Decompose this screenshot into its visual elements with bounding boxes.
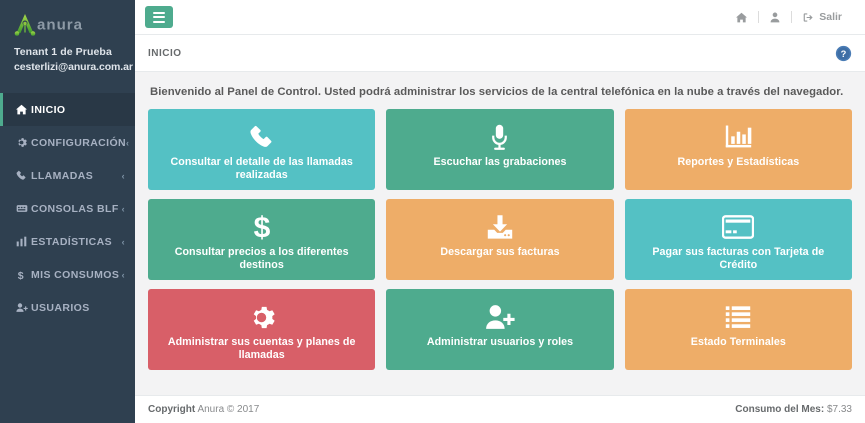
tenant-name: Tenant 1 de Prueba — [14, 45, 121, 60]
sidebar-item-inicio[interactable]: INICIO — [0, 93, 135, 126]
sidebar-item-configuracion[interactable]: CONFIGURACIÓN ‹ — [0, 126, 135, 159]
sidebar-nav: INICIO CONFIGURACIÓN ‹ LLAMADAS ‹ — [0, 93, 135, 324]
tile-consultar-precios-destinos[interactable]: $ Consultar precios a los diferentes des… — [148, 199, 375, 280]
sidebar: anura Tenant 1 de Prueba cesterlizi@anur… — [0, 0, 135, 423]
console-icon — [16, 203, 31, 214]
gear-icon — [248, 300, 275, 334]
topnav-home-button[interactable] — [725, 12, 758, 23]
sidebar-item-estadisticas[interactable]: ESTADÍSTICAS ‹ — [0, 225, 135, 258]
breadcrumb: INICIO — [148, 48, 182, 59]
logout-button[interactable]: Salir — [792, 11, 853, 23]
footer-consumption: Consumo del Mes: $7.33 — [735, 404, 852, 415]
list-icon — [725, 300, 751, 334]
logo[interactable]: anura — [14, 12, 121, 38]
footer-copyright-rest: Anura © 2017 — [195, 404, 259, 415]
help-circle-icon: ? — [835, 45, 852, 62]
logout-icon — [803, 12, 814, 23]
hamburger-icon-line — [153, 16, 165, 18]
home-icon — [736, 12, 747, 23]
chevron-left-icon: ‹ — [122, 237, 125, 247]
tile-label: Estado Terminales — [683, 334, 794, 349]
app-root: anura Tenant 1 de Prueba cesterlizi@anur… — [0, 0, 865, 423]
sidebar-item-label: ESTADÍSTICAS — [31, 236, 122, 248]
phone-icon — [16, 170, 31, 181]
menu-toggle-button[interactable] — [145, 6, 173, 28]
chevron-left-icon: ‹ — [122, 270, 125, 280]
chevron-left-icon: ‹ — [126, 138, 129, 148]
welcome-text: Bienvenido al Panel de Control. Usted po… — [150, 86, 852, 98]
tile-escuchar-grabaciones[interactable]: Escuchar las grabaciones — [386, 109, 613, 190]
sidebar-item-mis-consumos[interactable]: $ MIS CONSUMOS ‹ — [0, 258, 135, 291]
help-button[interactable]: ? — [835, 45, 852, 62]
hamburger-icon-line — [153, 21, 165, 23]
tile-label: Pagar sus facturas con Tarjeta de Crédit… — [625, 244, 852, 272]
svg-text:anura: anura — [37, 17, 83, 34]
sidebar-item-llamadas[interactable]: LLAMADAS ‹ — [0, 159, 135, 192]
tile-grid: Consultar el detalle de las llamadas rea… — [148, 109, 852, 370]
home-icon — [16, 104, 31, 115]
microphone-icon — [487, 120, 512, 154]
svg-text:?: ? — [841, 49, 847, 59]
tile-estado-terminales[interactable]: Estado Terminales — [625, 289, 852, 370]
tile-label: Administrar sus cuentas y planes de llam… — [148, 334, 375, 362]
sidebar-item-usuarios[interactable]: USUARIOS — [0, 291, 135, 324]
dollar-icon: $ — [16, 269, 31, 281]
tile-label: Reportes y Estadísticas — [669, 154, 807, 169]
sidebar-item-label: CONSOLAS BLF — [31, 203, 122, 215]
tile-label: Consultar precios a los diferentes desti… — [148, 244, 375, 272]
sidebar-item-consolas-blf[interactable]: CONSOLAS BLF ‹ — [0, 192, 135, 225]
bar-chart-icon — [16, 236, 31, 247]
user-add-icon — [485, 300, 515, 334]
gear-icon — [16, 137, 31, 148]
tile-consultar-detalle-llamadas[interactable]: Consultar el detalle de las llamadas rea… — [148, 109, 375, 190]
footer-copyright-strong: Copyright — [148, 404, 195, 415]
topnav-user-button[interactable] — [759, 12, 791, 23]
tile-label: Consultar el detalle de las llamadas rea… — [148, 154, 375, 182]
top-nav: Salir — [725, 11, 853, 23]
bar-chart-icon — [725, 120, 752, 154]
svg-text:$: $ — [253, 212, 270, 242]
anura-logo-icon — [14, 13, 36, 37]
tile-descargar-facturas[interactable]: Descargar sus facturas — [386, 199, 613, 280]
tile-administrar-cuentas-planes[interactable]: Administrar sus cuentas y planes de llam… — [148, 289, 375, 370]
footer: Copyright Anura © 2017 Consumo del Mes: … — [135, 395, 865, 423]
chevron-left-icon: ‹ — [122, 171, 125, 181]
anura-wordmark-icon: anura — [37, 15, 121, 35]
tile-pagar-facturas-tarjeta[interactable]: Pagar sus facturas con Tarjeta de Crédit… — [625, 199, 852, 280]
tile-label: Descargar sus facturas — [432, 244, 567, 259]
credit-card-icon — [722, 210, 754, 244]
breadcrumb-bar: INICIO ? — [135, 35, 865, 72]
tile-reportes-estadisticas[interactable]: Reportes y Estadísticas — [625, 109, 852, 190]
phone-icon — [249, 120, 275, 154]
hamburger-icon-line — [153, 12, 165, 14]
sidebar-item-label: INICIO — [31, 104, 125, 116]
footer-copyright: Copyright Anura © 2017 — [148, 404, 259, 415]
sidebar-item-label: USUARIOS — [31, 302, 125, 314]
chevron-left-icon: ‹ — [122, 204, 125, 214]
sidebar-item-label: MIS CONSUMOS — [31, 269, 122, 281]
sidebar-item-label: LLAMADAS — [31, 170, 122, 182]
content-area: Bienvenido al Panel de Control. Usted po… — [135, 72, 865, 395]
svg-text:$: $ — [18, 269, 24, 280]
tile-label: Escuchar las grabaciones — [425, 154, 574, 169]
dollar-icon: $ — [252, 210, 272, 244]
tile-administrar-usuarios-roles[interactable]: Administrar usuarios y roles — [386, 289, 613, 370]
tenant-email: cesterlizi@anura.com.ar — [14, 60, 121, 75]
user-icon — [770, 12, 780, 23]
sidebar-brand: anura Tenant 1 de Prueba cesterlizi@anur… — [0, 0, 135, 85]
download-icon — [486, 210, 514, 244]
sidebar-item-label: CONFIGURACIÓN — [31, 137, 126, 149]
top-bar: Salir — [135, 0, 865, 35]
footer-consumption-value: $7.33 — [824, 404, 852, 415]
tile-label: Administrar usuarios y roles — [419, 334, 581, 349]
footer-consumption-label: Consumo del Mes: — [735, 404, 824, 415]
user-add-icon — [16, 302, 31, 313]
logout-label: Salir — [819, 11, 842, 23]
main-area: Salir INICIO ? Bienvenido al Panel de Co… — [135, 0, 865, 423]
